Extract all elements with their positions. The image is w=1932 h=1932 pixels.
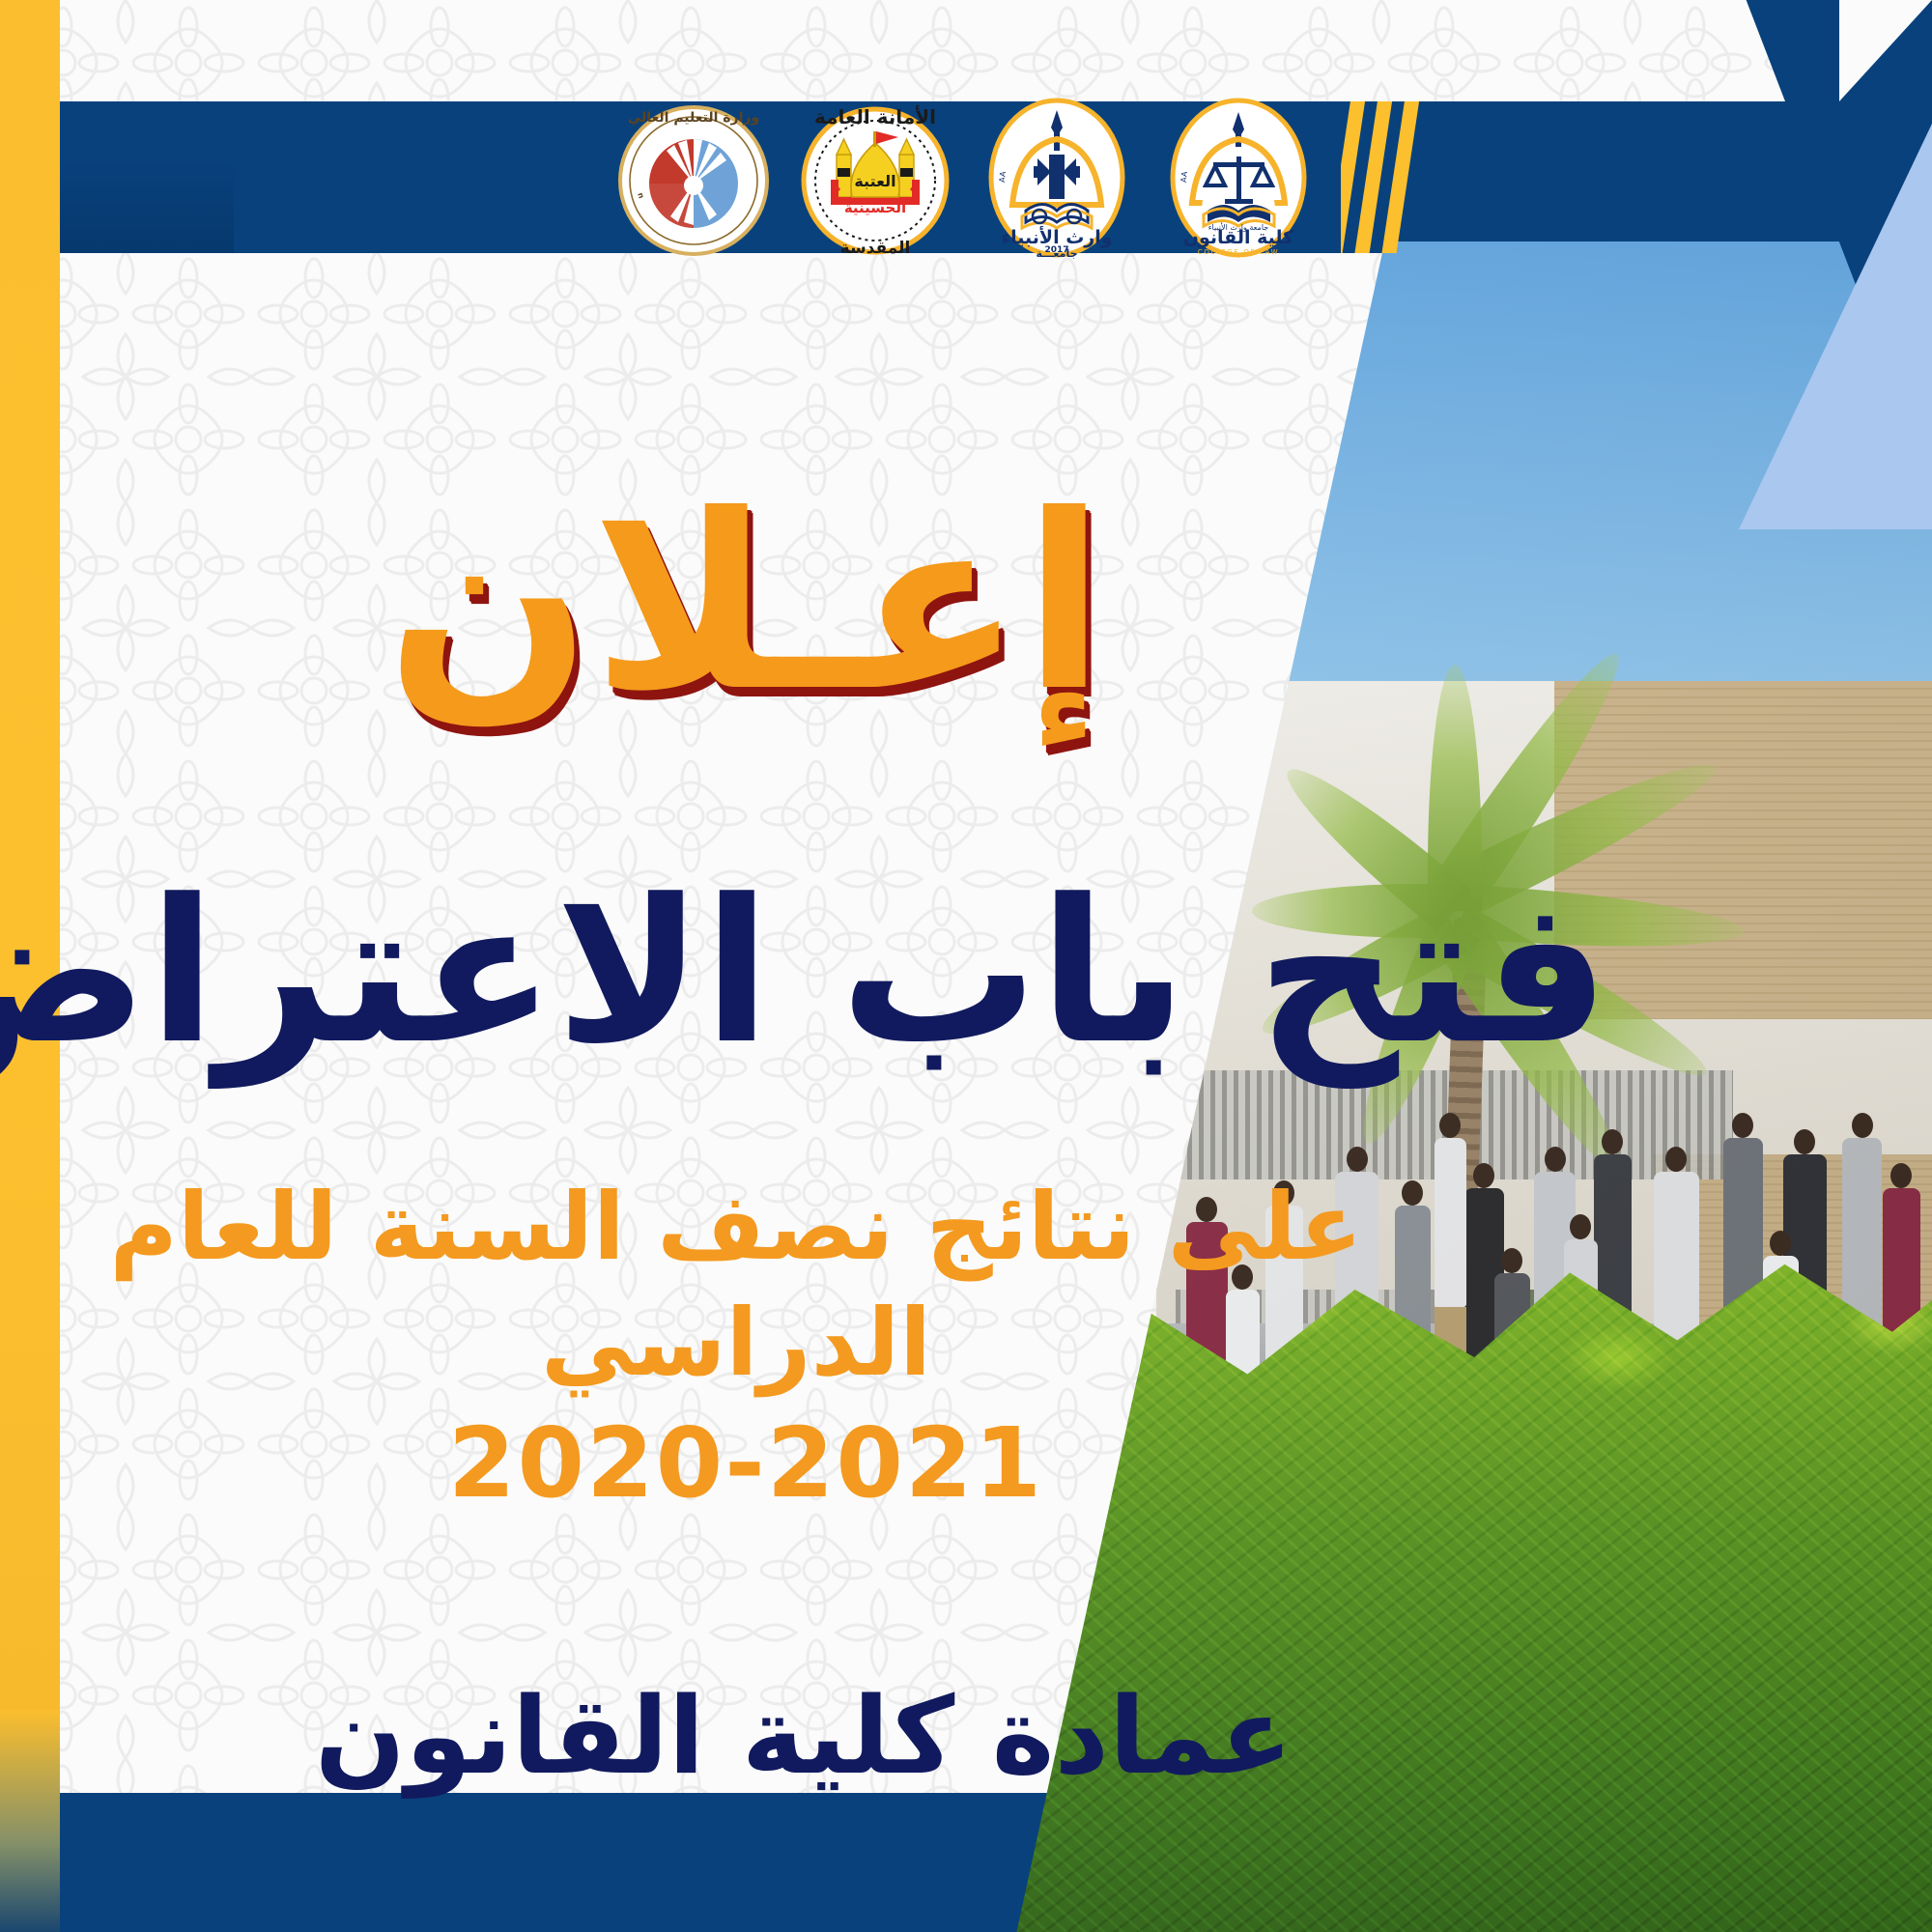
svg-text:العتبة: العتبة bbox=[854, 172, 895, 190]
svg-text:المقدسة: المقدسة bbox=[840, 239, 911, 258]
page-title: فتح باب الاعتراض bbox=[0, 869, 1609, 1077]
announcement-poster: كلية القانون جامعة وارث الأنبياء COLLEGE… bbox=[0, 0, 1932, 1932]
issuer-name: عمادة كلية القانون bbox=[315, 1674, 1293, 1798]
subtitle: على نتائج نصف السنة للعام الدراسي bbox=[103, 1169, 1388, 1401]
svg-text:وزارة التعليم العالي: وزارة التعليم العالي bbox=[628, 110, 759, 126]
svg-text:جامعة وارث الأنبياء: جامعة وارث الأنبياء bbox=[1208, 222, 1268, 232]
academic-year: 2020-2021 bbox=[448, 1406, 1043, 1520]
college-of-law-logo: كلية القانون جامعة وارث الأنبياء COLLEGE… bbox=[1161, 97, 1316, 266]
left-rail-gradient-foot bbox=[0, 1710, 60, 1932]
poster-content: إعـلان فتح باب الاعتراض على نتائج نصف ال… bbox=[60, 290, 1432, 1797]
imam-hussain-holy-shrine-logo: الأمانة العامة المقدسة bbox=[798, 97, 952, 266]
svg-text:الحسينية: الحسينية bbox=[844, 199, 906, 216]
svg-text:2017: 2017 bbox=[1044, 245, 1068, 255]
ministry-higher-education-logo: وزارة التعليم العالي bbox=[616, 97, 771, 266]
svg-text:COLLEGE OF LAW: COLLEGE OF LAW bbox=[1198, 248, 1279, 256]
svg-text:الأمانة العامة: الأمانة العامة bbox=[814, 104, 936, 128]
logo-row: كلية القانون جامعة وارث الأنبياء COLLEGE… bbox=[0, 97, 1932, 266]
announcement-label: إعـلان bbox=[385, 483, 1105, 724]
university-warith-al-anbiyaa-logo: وارث الأنبياء جامعـــة 2017 UNIVERSITY O… bbox=[980, 97, 1134, 266]
